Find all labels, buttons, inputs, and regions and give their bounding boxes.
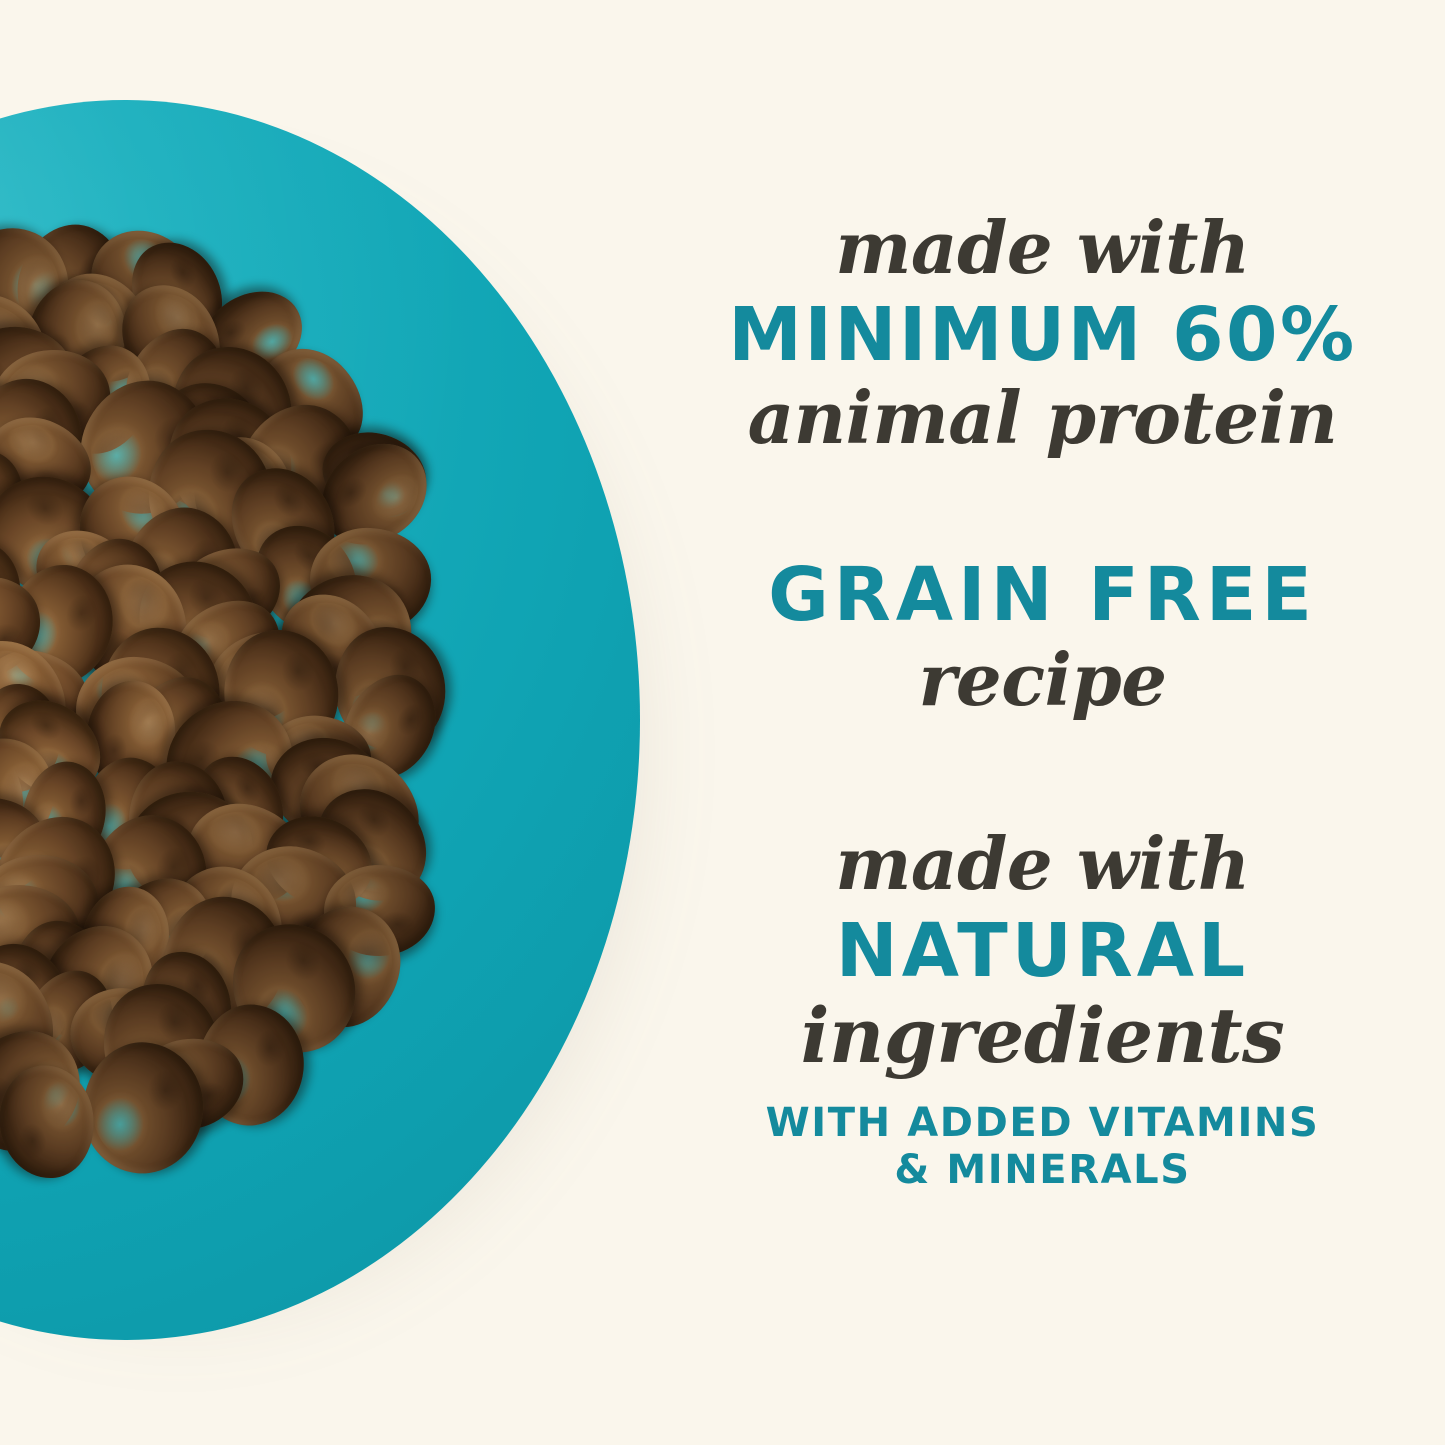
claim-natural-script-bottom: ingredients [640, 998, 1445, 1074]
claim-grain-free: GRAIN FREE recipe [640, 558, 1445, 716]
claims-panel: made with MINIMUM 60% animal protein GRA… [640, 0, 1445, 1445]
claim-protein-script-bottom: animal protein [640, 382, 1445, 454]
product-feature-panel: made with MINIMUM 60% animal protein GRA… [0, 0, 1445, 1445]
claim-natural: made with NATURAL ingredients [640, 828, 1445, 1074]
claim-grain-free-script: recipe [640, 644, 1445, 716]
claim-grain-free-headline: GRAIN FREE [640, 558, 1445, 632]
claim-natural-headline: NATURAL [640, 914, 1445, 988]
vitamins-minerals-footnote: WITH ADDED VITAMINS & MINERALS [766, 1100, 1320, 1194]
claim-natural-script-top: made with [640, 828, 1445, 900]
claim-protein-headline: MINIMUM 60% [640, 298, 1445, 372]
kibble-mound [0, 250, 460, 1130]
claim-protein: made with MINIMUM 60% animal protein [640, 212, 1445, 454]
footnote-line-2: & MINERALS [766, 1147, 1320, 1194]
footnote-line-1: WITH ADDED VITAMINS [766, 1100, 1320, 1147]
claim-protein-script-top: made with [640, 212, 1445, 284]
